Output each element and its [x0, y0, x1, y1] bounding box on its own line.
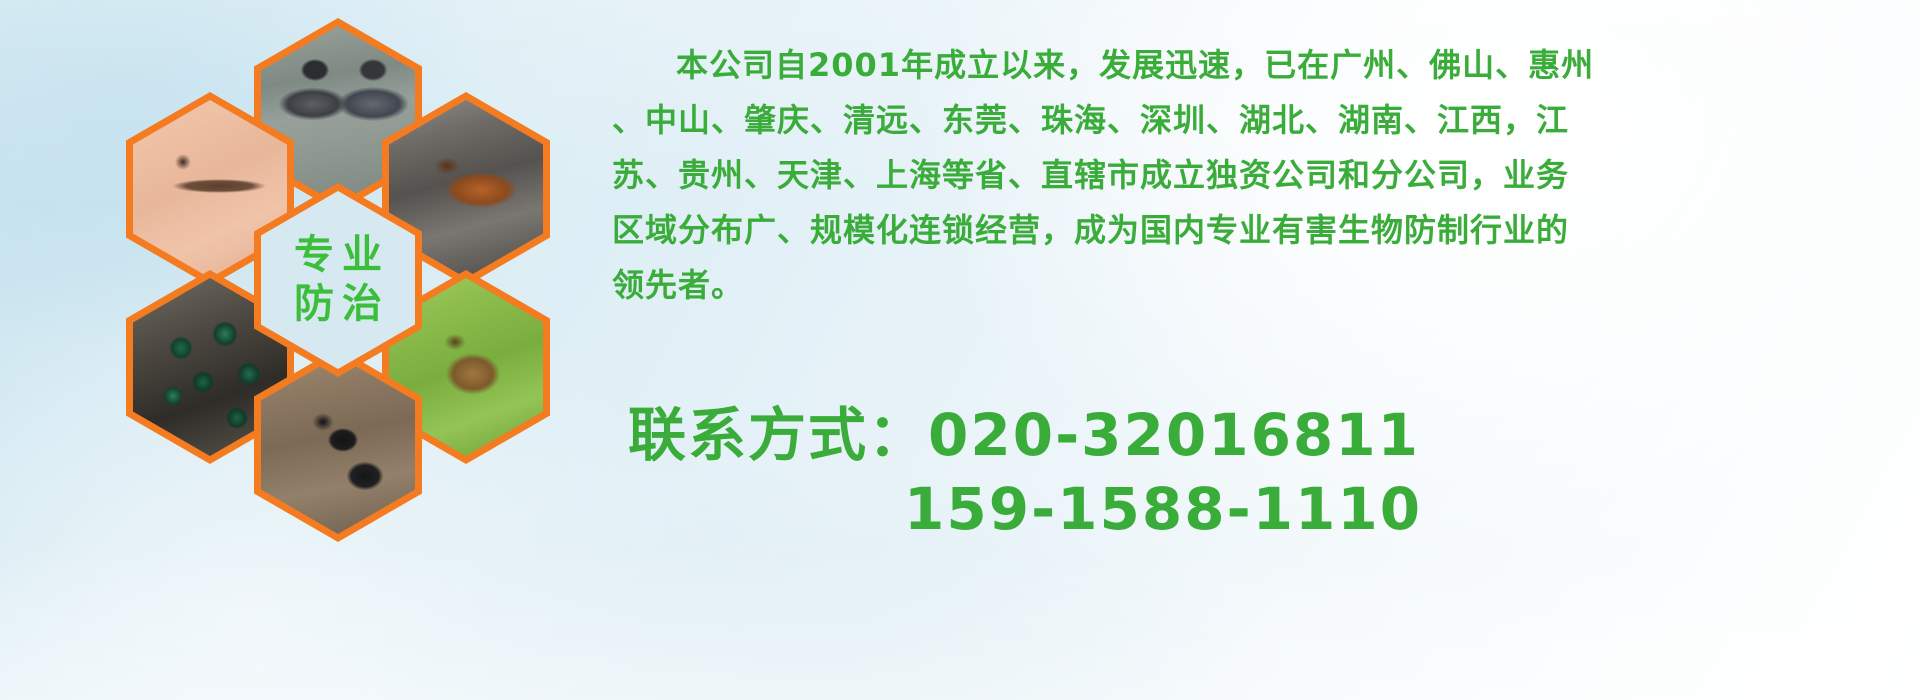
ant-photo — [261, 356, 415, 534]
slogan-line-2: 防治 — [286, 282, 390, 327]
contact-secondary-phone[interactable]: 159-1588-1110 — [612, 472, 1910, 546]
contact-primary-phone[interactable]: 联系方式：020-32016811 — [612, 398, 1910, 472]
intro-line-3: 苏、贵州、天津、上海等省、直辖市成立独资公司和分公司，业务 — [612, 148, 1910, 203]
intro-line-4: 区域分布广、规模化连锁经营，成为国内专业有害生物防制行业的 — [612, 203, 1910, 258]
slogan-text: 专业 防治 — [261, 191, 415, 369]
intro-line-1: 本公司自2001年成立以来，发展迅速，已在广州、佛山、惠州 — [612, 38, 1910, 93]
intro-line-2: 、中山、肇庆、清远、东莞、珠海、深圳、湖北、湖南、江西，江 — [612, 93, 1910, 148]
hex-inner-slogan: 专业 防治 — [261, 191, 415, 369]
content-column: 本公司自2001年成立以来，发展迅速，已在广州、佛山、惠州 、中山、肇庆、清远、… — [612, 0, 1920, 700]
slogan-line-1: 专业 — [286, 233, 390, 278]
honeycomb-collage: 专业 防治 — [88, 8, 588, 553]
banner-root: 专业 防治 本公司自2001年成立以来，发展迅速，已在广州、佛山、惠州 、中山、… — [0, 0, 1920, 700]
contact-block: 联系方式：020-32016811 159-1588-1110 — [612, 398, 1910, 546]
hex-inner-ant — [261, 356, 415, 534]
company-intro-paragraph: 本公司自2001年成立以来，发展迅速，已在广州、佛山、惠州 、中山、肇庆、清远、… — [612, 38, 1910, 313]
intro-line-5: 领先者。 — [612, 258, 1910, 313]
